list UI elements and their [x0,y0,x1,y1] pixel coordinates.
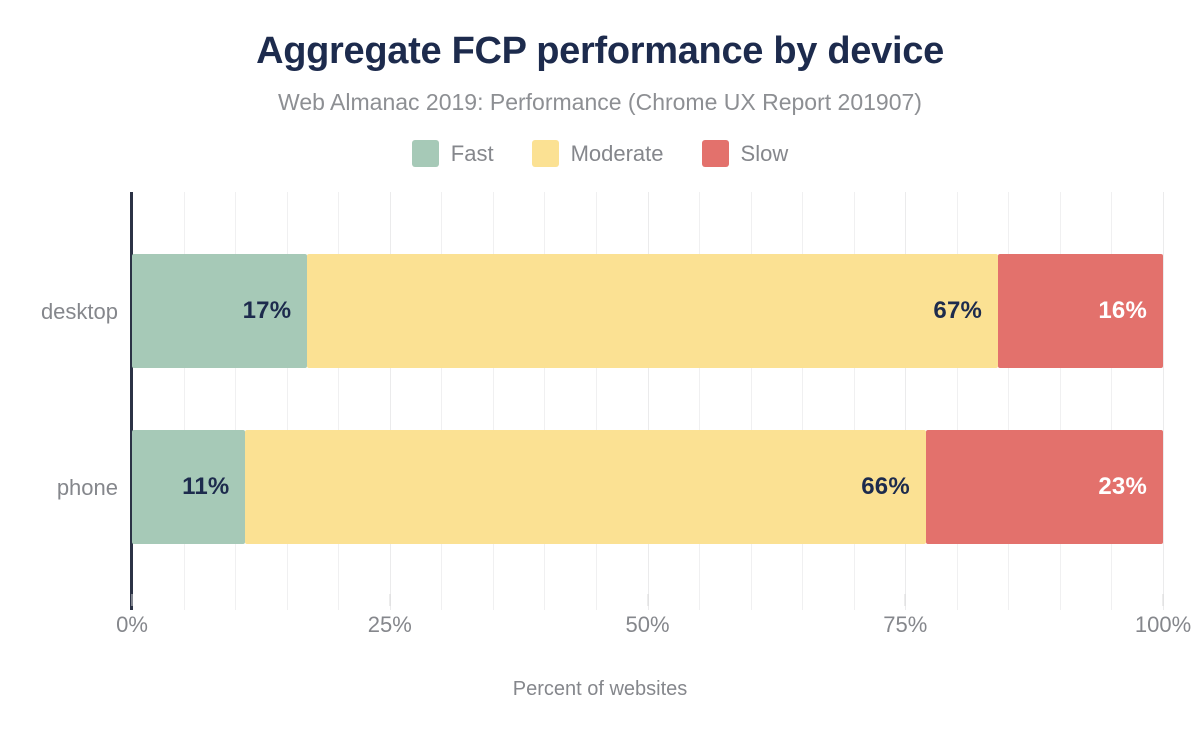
bar-row: 11%66%23% [132,430,1163,544]
legend-swatch-fast-icon [412,140,439,167]
bar-segment-moderate-desktop[interactable]: 67% [307,254,998,368]
legend-label-fast: Fast [451,143,494,165]
bar-segment-value-label: 16% [1098,297,1163,325]
y-axis-label-desktop: desktop [41,299,118,325]
x-axis-tick-mark [1163,594,1164,606]
legend-label-moderate: Moderate [571,143,664,165]
bar-segment-fast-desktop[interactable]: 17% [132,254,307,368]
legend-swatch-slow-icon [702,140,729,167]
y-axis-label-phone: phone [57,475,118,501]
bar-segment-value-label: 66% [861,473,926,501]
bar-segment-fast-phone[interactable]: 11% [132,430,245,544]
x-axis-tick-mark [647,594,648,606]
bar-segment-slow-desktop[interactable]: 16% [998,254,1163,368]
chart-container: Aggregate FCP performance by device Web … [0,0,1200,742]
bar-segment-value-label: 17% [243,297,308,325]
bar-segment-moderate-phone[interactable]: 66% [245,430,925,544]
x-axis-tick-mark [905,594,906,606]
x-axis-tick-label: 0% [116,612,148,638]
x-axis-tick-label: 50% [625,612,669,638]
bar-segment-value-label: 67% [933,297,998,325]
x-axis-ticks: 0%25%50%75%100% [132,612,1163,652]
bar-segment-slow-phone[interactable]: 23% [926,430,1163,544]
x-axis-tick-label: 100% [1135,612,1191,638]
x-axis-tick-label: 25% [368,612,412,638]
chart-title: Aggregate FCP performance by device [0,30,1200,73]
x-axis-tick-mark [389,594,390,606]
plot-area: 17%67%16% 11%66%23% [132,192,1163,610]
x-axis-tick-mark [132,594,133,606]
gridline [1163,192,1164,610]
bar-segment-value-label: 11% [182,473,245,501]
x-axis-tick-label: 75% [883,612,927,638]
legend-label-slow: Slow [741,143,789,165]
bar-segment-value-label: 23% [1098,473,1163,501]
legend-item-fast[interactable]: Fast [412,140,494,167]
legend-item-slow[interactable]: Slow [702,140,789,167]
legend-swatch-moderate-icon [532,140,559,167]
x-axis-title: Percent of websites [0,678,1200,701]
legend-item-moderate[interactable]: Moderate [532,140,664,167]
chart-subtitle: Web Almanac 2019: Performance (Chrome UX… [0,89,1200,116]
chart-legend: Fast Moderate Slow [0,140,1200,167]
bar-row: 17%67%16% [132,254,1163,368]
